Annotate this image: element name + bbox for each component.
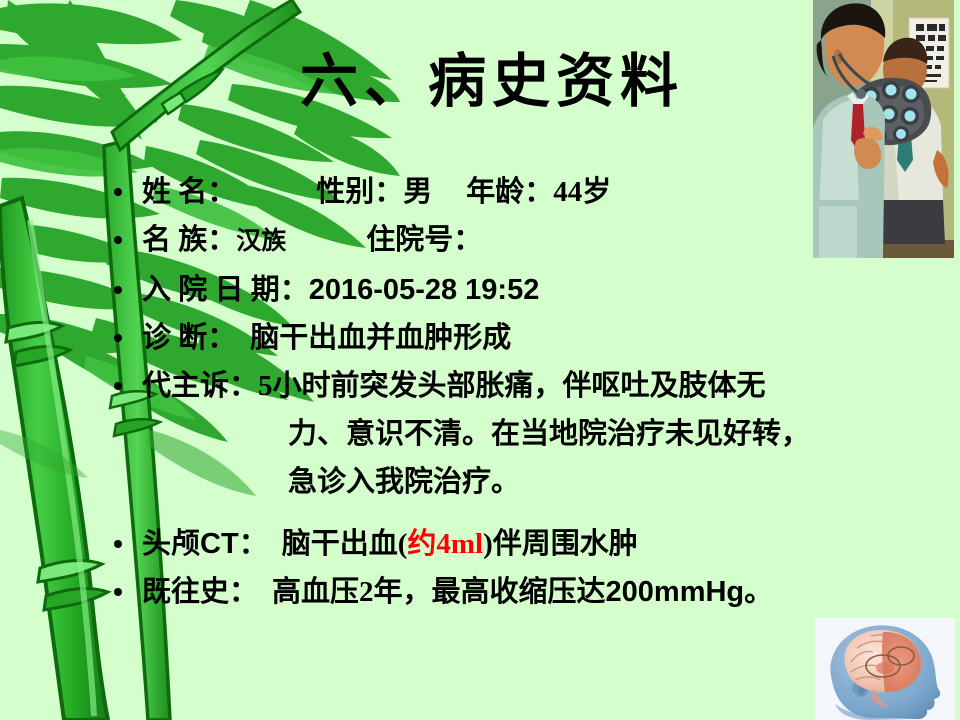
bullet-label-head-ct-cn: 头颅 xyxy=(142,520,200,568)
bullet-admission-datetime: 入 院 日 期：2016-05-28 19:52 xyxy=(110,266,910,314)
bullet-label-past-history: 既往史： xyxy=(142,568,258,616)
slide-title: 六、病史资料 xyxy=(300,52,720,113)
history-bullet-list: 姓 名：性别：男年龄：44岁 名 族：汉族住院号： 入 院 日 期：2016-0… xyxy=(110,168,910,616)
bullet-label-admission-number: 住院号： xyxy=(366,216,482,264)
bullet-dot-icon xyxy=(114,314,126,362)
bullet-dot-icon xyxy=(114,362,126,410)
bullet-value-past-history-bp: 200mmHg xyxy=(606,568,745,616)
bullet-label-ethnicity: 名 族： xyxy=(142,216,236,264)
bullet-past-history: 既往史：高血压2年，最高收缩压达200mmHg。 xyxy=(110,568,910,616)
bullet-label-diagnosis: 诊 断： xyxy=(142,314,236,362)
bullet-value-past-history-post: 。 xyxy=(744,568,773,616)
bullet-label-patient-name: 姓 名： xyxy=(142,168,236,216)
bullet-value-head-ct-volume: 约4ml xyxy=(407,520,483,568)
bullet-dot-icon xyxy=(114,168,126,216)
bullet-head-ct: 头颅CT：脑干出血(约4ml)伴周围水肿 xyxy=(110,520,910,568)
bullet-label-head-ct-colon: ： xyxy=(239,520,268,568)
bullet-ethnicity: 名 族：汉族住院号： xyxy=(110,216,910,266)
eye-exam-clipart xyxy=(813,0,954,258)
bullet-value-past-history-pre: 高血压2年，最高收缩压达 xyxy=(272,568,606,616)
bullet-label-admission-datetime: 入 院 日 期： xyxy=(142,266,309,314)
bullet-value-diagnosis: 脑干出血并血肿形成 xyxy=(250,314,511,362)
bullet-value-age: 年龄：44岁 xyxy=(466,168,611,216)
bullet-dot-icon xyxy=(114,266,126,314)
bullet-value-admission-datetime: 2016-05-28 19:52 xyxy=(309,266,540,314)
bullet-chief-complaint-line3: 急诊入我院治疗。 xyxy=(110,458,910,506)
bullet-value-head-ct-post: )伴周围水肿 xyxy=(483,520,638,568)
brain-illustration xyxy=(815,618,955,720)
slide-canvas: 六、病史资料 姓 名：性别：男年龄：44岁 名 族：汉族住院号： 入 院 日 期… xyxy=(0,0,960,720)
bullet-chief-complaint-line2: 力、意识不清。在当地院治疗未见好转， xyxy=(110,410,910,458)
bullet-label-head-ct-latin: CT xyxy=(200,520,239,568)
bullet-value-sex: 性别：男 xyxy=(316,168,432,216)
bullet-patient-name: 姓 名：性别：男年龄：44岁 xyxy=(110,168,910,216)
bullet-dot-icon xyxy=(114,216,126,264)
bullet-dot-icon xyxy=(114,520,126,568)
bullet-diagnosis: 诊 断：脑干出血并血肿形成 xyxy=(110,314,910,362)
bullet-dot-icon xyxy=(114,568,126,616)
bullet-value-head-ct-pre: 脑干出血( xyxy=(282,520,408,568)
bullet-value-chief-complaint: 5小时前突发头部胀痛，伴呕吐及肢体无 xyxy=(258,362,766,410)
bullet-label-chief-complaint: 代主诉： xyxy=(142,362,258,410)
bullet-value-ethnicity: 汉族 xyxy=(236,218,286,266)
bullet-chief-complaint: 代主诉：5小时前突发头部胀痛，伴呕吐及肢体无 xyxy=(110,362,910,410)
